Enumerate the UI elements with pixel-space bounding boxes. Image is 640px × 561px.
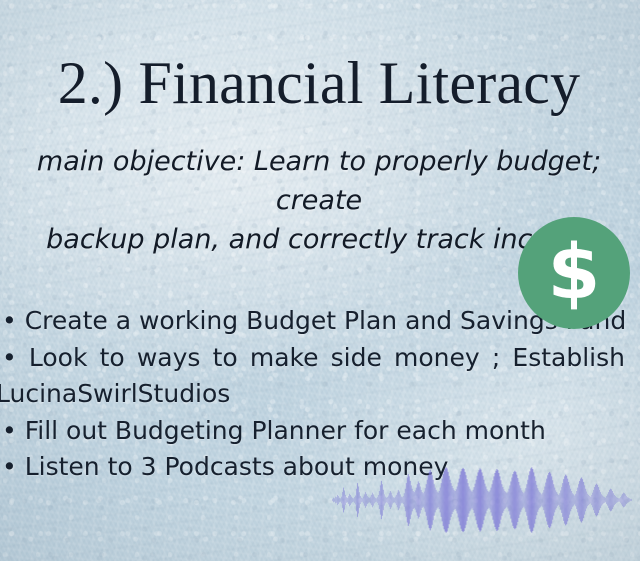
slide-canvas: 2.) Financial Literacy main objective: L… (0, 0, 640, 561)
dollar-sign-icon: $ (548, 234, 601, 310)
bullet-item-2-continuation: LucinaSwirlStudios (0, 376, 628, 413)
bullet-item-3: • Fill out Budgeting Planner for each mo… (2, 413, 628, 450)
bullet-item-2: • Look to ways to make side money ; Esta… (2, 340, 625, 377)
slide-content: 2.) Financial Literacy main objective: L… (0, 0, 640, 561)
slide-title: 2.) Financial Literacy (0, 52, 638, 115)
subtitle-line-1: main objective: Learn to properly budget… (2, 142, 636, 220)
bullet-list: • Create a working Budget Plan and Savin… (2, 303, 628, 486)
dollar-badge: $ (518, 217, 630, 329)
audio-waveform-graphic (332, 466, 632, 534)
